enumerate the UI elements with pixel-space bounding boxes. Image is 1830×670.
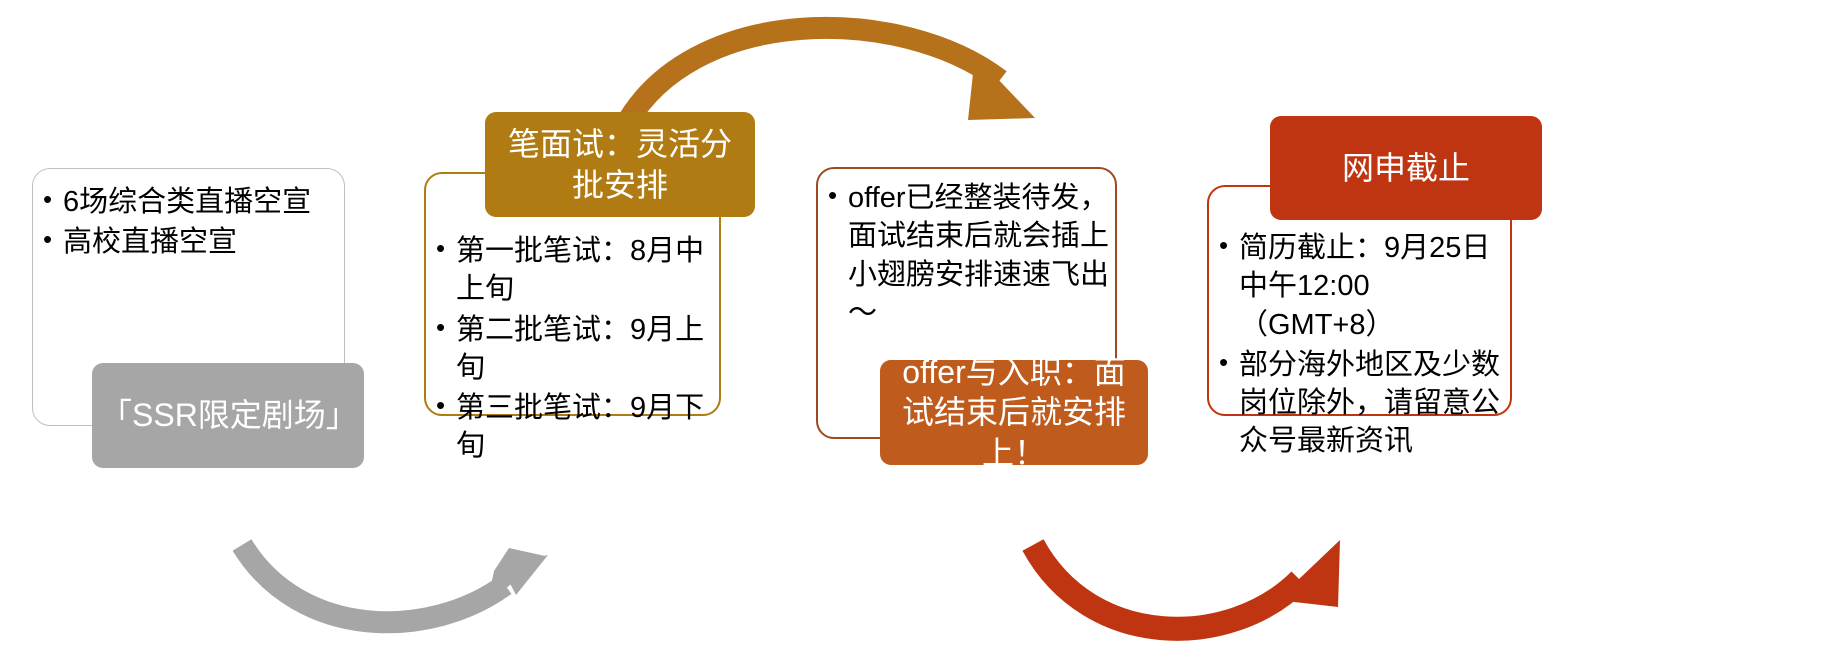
list-item: 简历截止：9月25日 中午12:00（GMT+8） — [1217, 229, 1504, 344]
card-3-bullet-list: offer已经整装待发，面试结束后就会插上小翅膀安排速速飞出～ — [826, 179, 1109, 332]
stage-label-ssr-theater[interactable]: 「SSR限定剧场」 — [92, 363, 364, 468]
stage-label-application-deadline[interactable]: 网申截止 — [1270, 116, 1542, 220]
list-item: 第二批笔试：9月上旬 — [434, 311, 713, 388]
arrow-gray — [242, 545, 548, 622]
list-item: offer已经整装待发，面试结束后就会插上小翅膀安排速速飞出～ — [826, 179, 1109, 332]
card-1-bullet-list: 6场综合类直播空宣 高校直播空宣 — [41, 183, 334, 262]
card-4-body: 简历截止：9月25日 中午12:00（GMT+8） 部分海外地区及少数岗位除外，… — [1209, 187, 1510, 461]
list-item: 高校直播空宣 — [41, 223, 334, 261]
stage-label-offer-onboarding[interactable]: offer与入职：面试结束后就安排上！ — [880, 360, 1148, 465]
card-2-body: 第一批笔试：8月中上旬 第二批笔试：9月上旬 第三批笔试：9月下旬 — [426, 174, 719, 466]
card-2-bullet-list: 第一批笔试：8月中上旬 第二批笔试：9月上旬 第三批笔试：9月下旬 — [434, 232, 713, 466]
card-4-bullet-list: 简历截止：9月25日 中午12:00（GMT+8） 部分海外地区及少数岗位除外，… — [1217, 229, 1504, 461]
card-3-body: offer已经整装待发，面试结束后就会插上小翅膀安排速速飞出～ — [818, 169, 1115, 332]
list-item: 第一批笔试：8月中上旬 — [434, 232, 713, 309]
arrow-red — [1033, 540, 1340, 629]
list-item: 6场综合类直播空宣 — [41, 183, 334, 221]
list-item: 第三批笔试：9月下旬 — [434, 389, 713, 466]
diagram-canvas: 6场综合类直播空宣 高校直播空宣 第一批笔试：8月中上旬 第二批笔试：9月上旬 … — [0, 0, 1830, 670]
card-1-body: 6场综合类直播空宣 高校直播空宣 — [33, 169, 344, 262]
list-item: 部分海外地区及少数岗位除外，请留意公众号最新资讯 — [1217, 346, 1504, 461]
stage-label-written-interview[interactable]: 笔面试：灵活分批安排 — [485, 112, 755, 217]
